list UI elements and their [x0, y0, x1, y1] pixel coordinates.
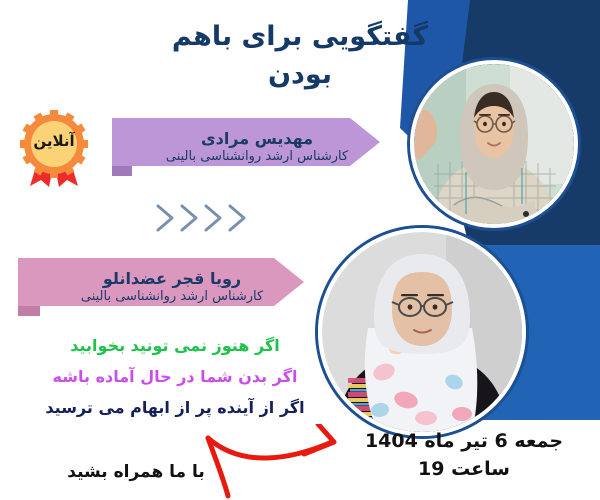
portrait-image-1 [414, 64, 574, 224]
schedule-date: جمعه 6 تیر ماه 1404 [344, 428, 584, 456]
speaker-banner-2: رویا قجر عضدانلو کارشناس ارشد روانشناسی … [18, 258, 304, 316]
schedule-block: جمعه 6 تیر ماه 1404 ساعت 19 [344, 428, 584, 483]
speaker-banner-2-text: رویا قجر عضدانلو کارشناس ارشد روانشناسی … [54, 258, 290, 316]
speaker-photo-1 [410, 60, 578, 228]
portrait-image-2 [322, 232, 522, 432]
poster-canvas: گفتگویی برای باهم بودن آنلاین [0, 0, 600, 500]
schedule-time: ساعت 19 [344, 456, 584, 484]
slogan-line-2: اگر بدن شما در حال آماده باشه [14, 361, 336, 392]
slogan-line-1: اگر هنوز نمی تونید بخوابید [14, 330, 336, 361]
join-cta-text: با ما همراه بشید [46, 462, 226, 482]
speaker-banner-1-text: مهدیس مرادی کارشناس ارشد روانشناسی بالین… [148, 118, 366, 176]
page-title: گفتگویی برای باهم بودن [150, 18, 450, 95]
speaker-photo-2 [318, 228, 526, 436]
slogan-list: اگر هنوز نمی تونید بخوابید اگر بدن شما د… [14, 330, 336, 424]
speaker-role: کارشناس ارشد روانشناسی بالینی [81, 289, 263, 306]
slogan-line-3: اگر از آینده پر از ابهام می ترسید [14, 392, 336, 423]
speaker-role: کارشناس ارشد روانشناسی بالینی [166, 149, 348, 166]
speaker-name: مهدیس مرادی [201, 129, 313, 149]
speaker-name: رویا قجر عضدانلو [103, 269, 241, 289]
chevron-right-icons [152, 200, 262, 236]
ribbon-rosette-icon [16, 108, 92, 192]
online-badge: آنلاین [16, 108, 92, 192]
speaker-banner-1: مهدیس مرادی کارشناس ارشد روانشناسی بالین… [112, 118, 380, 176]
